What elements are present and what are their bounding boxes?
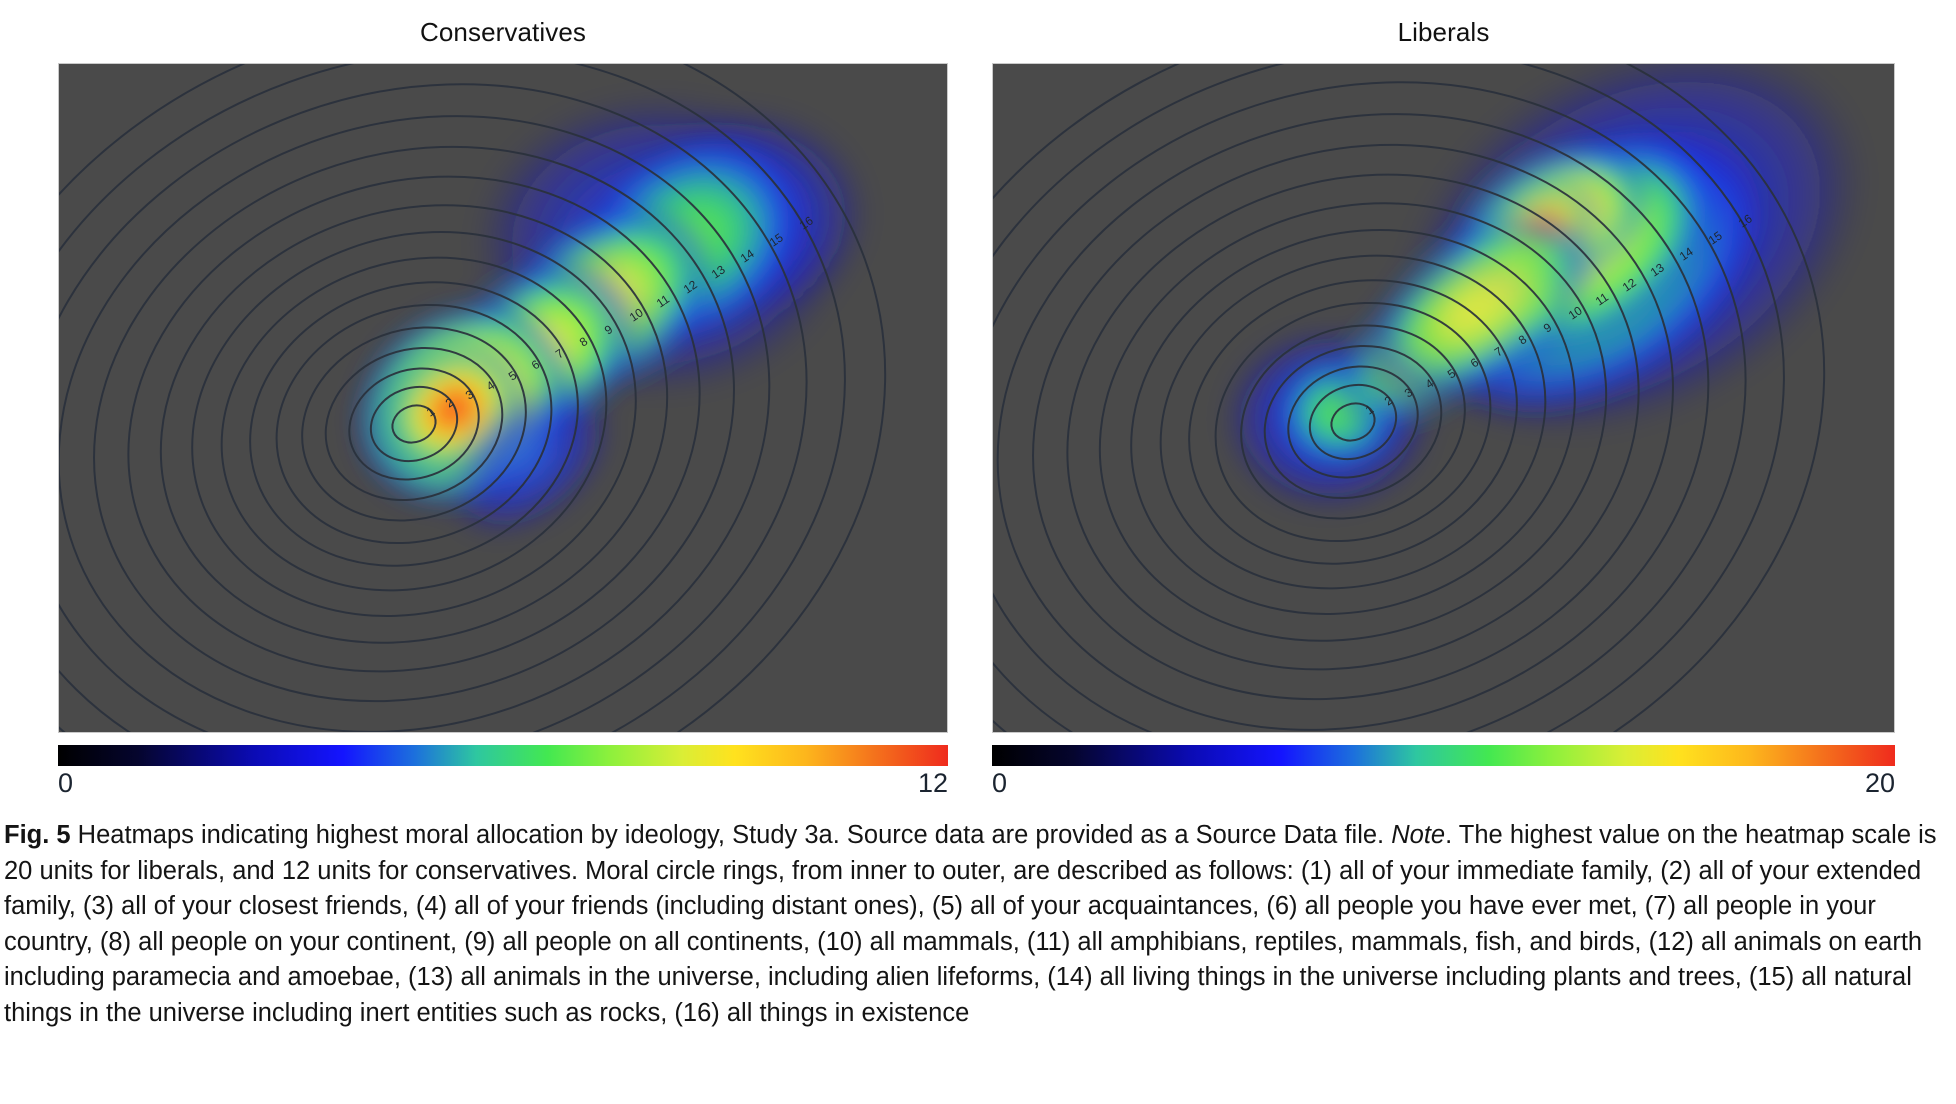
panel-title-liberals: Liberals bbox=[992, 0, 1895, 45]
colorbar-conservatives: 0 12 bbox=[58, 745, 948, 801]
colorbar-gradient-conservatives bbox=[58, 745, 948, 766]
colorbar-ticks-liberals: 0 20 bbox=[992, 767, 1895, 801]
heatmap-conservatives: 1 2 3 4 5 6 7 8 9 10 11 12 13 14 15 16 bbox=[58, 63, 948, 733]
figure-caption-note-word: Note bbox=[1391, 821, 1445, 849]
heatmap-liberals: 1 2 3 4 5 6 7 8 9 10 11 12 13 14 15 16 bbox=[992, 63, 1895, 733]
panel-liberals: Liberals bbox=[992, 0, 1895, 733]
colorbar-gradient-liberals bbox=[992, 745, 1895, 766]
heatmap-svg-conservatives: 1 2 3 4 5 6 7 8 9 10 11 12 13 14 15 16 bbox=[59, 64, 947, 732]
figure-caption-text-2: . The highest value on the heatmap scale… bbox=[4, 821, 1937, 1027]
colorbar-max-label-conservatives: 12 bbox=[918, 767, 948, 799]
panel-title-conservatives: Conservatives bbox=[58, 0, 948, 45]
colorbar-min-label-liberals: 0 bbox=[992, 767, 1007, 799]
colorbar-liberals: 0 20 bbox=[992, 745, 1895, 801]
figure-caption-label: Fig. 5 bbox=[4, 821, 71, 849]
heatmap-svg-liberals: 1 2 3 4 5 6 7 8 9 10 11 12 13 14 15 16 bbox=[993, 64, 1894, 732]
figure-5: Conservatives bbox=[0, 0, 1956, 800]
heat-density-liberals bbox=[1223, 64, 1894, 516]
colorbar-ticks-conservatives: 0 12 bbox=[58, 767, 948, 801]
colorbar-min-label-conservatives: 0 bbox=[58, 767, 73, 799]
figure-caption: Fig. 5 Heatmaps indicating highest moral… bbox=[4, 818, 1952, 1031]
panel-conservatives: Conservatives bbox=[58, 0, 948, 733]
figure-caption-text-1: Heatmaps indicating highest moral alloca… bbox=[71, 821, 1392, 849]
colorbar-max-label-liberals: 20 bbox=[1865, 767, 1895, 799]
